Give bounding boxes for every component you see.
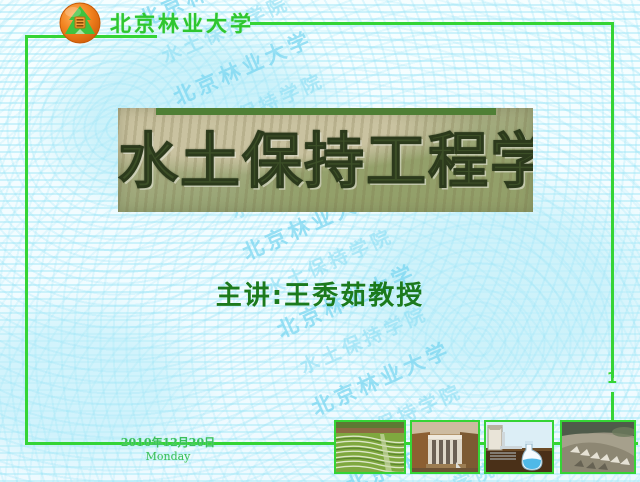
terraced-fields-thumbnail[interactable] [334, 420, 406, 474]
date-text: 2010年12月20日 [100, 436, 236, 450]
banner-top-stripe [156, 108, 496, 115]
background-swirl-texture [0, 0, 640, 482]
title-banner: 水土保持工程学 [118, 108, 533, 212]
bjfu-pine-tree-logo [58, 2, 102, 44]
university-name: 北京林业大学 [110, 8, 254, 38]
slide-title: 水土保持工程学 [118, 122, 533, 202]
water-cistern-thumbnail[interactable] [484, 420, 554, 474]
weekday-text: Monday [100, 450, 236, 464]
page-number: 1 [605, 370, 619, 386]
dam-spillway-thumbnail[interactable] [410, 420, 480, 474]
presentation-slide: 北京林业大学 水土保持学院 北京林业大学 水土保持学院 北京林业大学 水土保持学… [0, 0, 640, 482]
check-dam-thumbnail[interactable] [560, 420, 636, 474]
frame-left-line [25, 35, 28, 445]
date-block: 2010年12月20日 Monday [100, 436, 236, 464]
frame-right-line [611, 22, 614, 378]
lecturer-subtitle: 主讲:王秀茹教授 [0, 275, 640, 312]
frame-top-line [250, 22, 614, 25]
